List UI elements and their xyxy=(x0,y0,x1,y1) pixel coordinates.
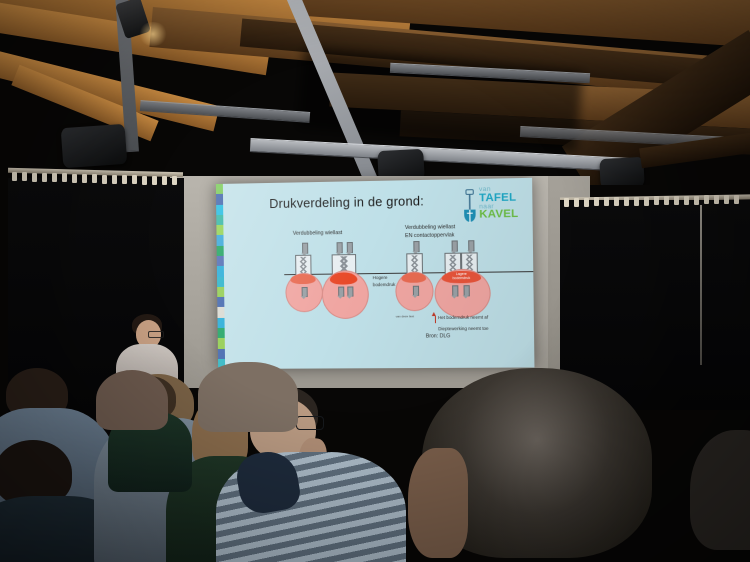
curtain-hook xyxy=(724,195,729,204)
ceiling-speaker xyxy=(599,157,645,185)
logo-line-tafel: TAFEL xyxy=(479,192,526,204)
audience-member xyxy=(96,370,156,410)
note-dieptewerking-toe: Dieptewerking neemt toe xyxy=(438,325,489,333)
contact-zone xyxy=(290,274,315,284)
audience-shoulders xyxy=(96,370,168,430)
audience-ear-side xyxy=(408,448,468,558)
load-arrow xyxy=(452,240,458,251)
depth-arrow xyxy=(347,286,353,296)
curtain-hook xyxy=(584,198,589,207)
projector-color-calibration-bar xyxy=(216,184,225,369)
presenter-glasses xyxy=(148,331,164,338)
badge-lagere-bodemdruk: Lagere bodemdruk xyxy=(443,272,480,281)
annotation-line xyxy=(434,316,435,323)
curtain-hook xyxy=(172,176,177,185)
diagram-caption-right-l2: EN contactoppervlak xyxy=(405,232,455,241)
shovel-icon xyxy=(462,189,477,223)
curtain-hook xyxy=(152,176,157,185)
curtain-hook xyxy=(32,173,37,182)
curtain-hook xyxy=(564,198,569,207)
label-hogere-bodemdruk-line2: bodemdruk xyxy=(373,281,396,288)
load-arrow xyxy=(302,243,308,254)
projection-screen: Drukverdeling in de grond: van TAFEL naa… xyxy=(216,178,535,369)
badge-line2: bodemdruk xyxy=(453,276,471,280)
wooden-beam-ceiling xyxy=(0,0,750,185)
load-arrow xyxy=(337,242,343,253)
depth-arrow xyxy=(412,286,418,296)
curtain-hook xyxy=(82,174,87,183)
spotlight-glow xyxy=(138,22,168,46)
curtain-hook xyxy=(42,173,47,182)
curtain-hook xyxy=(704,195,709,204)
curtain-hook xyxy=(674,196,679,205)
curtain-hook xyxy=(162,176,167,185)
curtain-hook xyxy=(72,174,77,183)
logo-text: van TAFEL naar KAVEL xyxy=(479,186,526,221)
depth-arrow xyxy=(338,287,344,297)
curtain-hook xyxy=(52,173,57,182)
curtain-hook xyxy=(734,195,739,204)
load-arrow xyxy=(413,241,419,252)
curtain-hook xyxy=(634,197,639,206)
curtain-hook xyxy=(574,198,579,207)
curtain-hook xyxy=(122,175,127,184)
curtain-hook xyxy=(684,196,689,205)
contact-zone xyxy=(401,272,426,282)
curtain-hook xyxy=(714,195,719,204)
curtain-hook xyxy=(654,196,659,205)
depth-arrow xyxy=(452,285,458,296)
curtain-hook xyxy=(112,175,117,184)
curtain-hook xyxy=(92,174,97,183)
diagram-group-right: Verdubbeling wiellast EN contactoppervla… xyxy=(397,223,535,347)
source-note: Bron: DLG xyxy=(426,333,451,339)
diagram-caption-left: Verdubbeling wiellast xyxy=(293,230,343,239)
curtain-hook xyxy=(102,175,107,184)
micro-note: van deze last xyxy=(396,314,414,318)
audience-member-foreground xyxy=(402,368,662,562)
curtain-hook xyxy=(614,197,619,206)
brand-logo: van TAFEL naar KAVEL xyxy=(460,186,525,225)
depth-arrow xyxy=(301,287,307,297)
lecture-room-photo: Drukverdeling in de grond: van TAFEL naa… xyxy=(0,0,750,562)
curtain-seam xyxy=(700,205,702,365)
audience-shoulders xyxy=(198,362,298,432)
curtain-hook xyxy=(62,173,67,182)
curtain-hook xyxy=(624,197,629,206)
audience-hair xyxy=(690,430,750,550)
logo-line-kavel: KAVEL xyxy=(479,209,526,221)
audience-member xyxy=(690,430,750,562)
curtain-hook xyxy=(12,172,17,181)
load-arrow xyxy=(347,242,353,253)
curtain-hook xyxy=(664,196,669,205)
curtain-hook xyxy=(132,175,137,184)
curtain-hook xyxy=(142,176,147,185)
curtain-hook xyxy=(594,197,599,206)
curtain-hook xyxy=(604,197,609,206)
slide-title: Drukverdeling in de grond: xyxy=(269,194,424,211)
ceiling-speaker xyxy=(61,124,128,168)
audience-member xyxy=(198,362,288,422)
load-arrow xyxy=(468,240,474,251)
curtain-hook xyxy=(644,197,649,206)
note-bodemdruk-af: Het bodemdruk neemt af xyxy=(438,314,488,322)
audience-glasses xyxy=(296,416,324,430)
curtain-hook xyxy=(694,196,699,205)
depth-arrow xyxy=(464,285,470,296)
curtain-hook xyxy=(22,172,27,181)
contact-zone-high xyxy=(330,272,358,284)
